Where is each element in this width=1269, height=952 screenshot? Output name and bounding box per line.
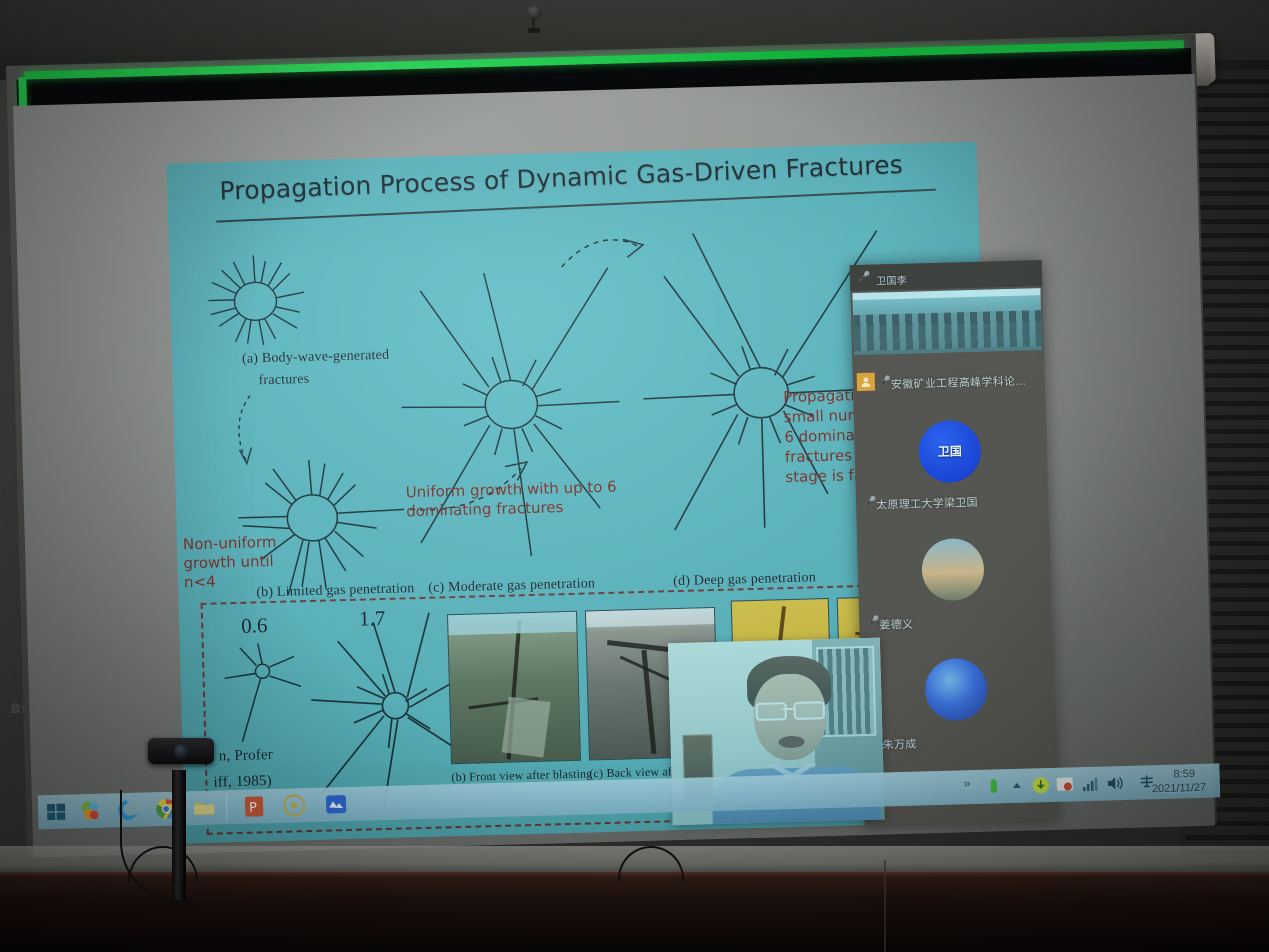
mic-stand — [884, 860, 886, 952]
fracture-diagram-c — [398, 262, 626, 568]
annotation-nonuniform: Non-uniform growth until n<4 — [183, 532, 304, 592]
photo-of-conference-room: 会议终端 Propagation Process of Dynamic Gas-… — [0, 0, 1269, 952]
file-explorer-icon[interactable] — [192, 796, 217, 821]
battery-icon[interactable] — [986, 778, 1002, 794]
mic-icon-2: 🎤 — [864, 497, 875, 508]
download-icon[interactable] — [1032, 776, 1050, 794]
avatar-earth-circle — [924, 658, 988, 722]
participant-label-4: 朱万成 — [882, 736, 916, 753]
label-a-line2: fractures — [258, 372, 309, 389]
windows-start-icon[interactable] — [44, 800, 69, 825]
glasses-icon — [756, 701, 824, 718]
label-a-line1: (a) Body-wave-generated — [242, 348, 390, 368]
meeting-app-icon[interactable] — [324, 792, 349, 817]
powerpoint-icon[interactable]: P — [242, 794, 267, 819]
camera-lens-icon — [174, 744, 189, 759]
media-player-icon[interactable] — [282, 793, 307, 818]
volume-icon[interactable] — [1106, 774, 1124, 792]
citation-left-line1: n, Profer — [219, 747, 274, 765]
taskbar-separator — [226, 793, 228, 821]
avatar-blue-circle: 卫国 — [918, 420, 982, 484]
up-arrow-icon[interactable] — [1010, 779, 1024, 793]
mic-icon-1: 🎤 — [879, 376, 890, 387]
participant-tile-4[interactable]: 🎤 朱万成 — [860, 648, 1055, 769]
svg-text:P: P — [249, 800, 257, 815]
colorful-app-icon[interactable] — [78, 799, 103, 824]
mic-icon-3: 🎤 — [867, 617, 878, 628]
participant-tile-2[interactable]: 卫国 🎤 太原理工大学梁卫国 — [854, 408, 1049, 529]
photo-front-view-after-blasting — [447, 611, 581, 764]
antivirus-icon[interactable] — [1056, 775, 1074, 793]
participant-label-3: 姜德义 — [879, 616, 913, 633]
ceiling-speaker-icon — [524, 6, 544, 34]
arrow-c-to-d — [559, 231, 650, 283]
participant-label-2: 太原理工大学梁卫国 — [876, 494, 978, 513]
fracture-diagram-a — [199, 240, 312, 353]
participant-tile-3[interactable]: 🎤 姜德义 — [857, 528, 1052, 649]
show-hidden-icons-chevron[interactable]: » — [964, 776, 971, 790]
avatar-photo-circle — [921, 538, 985, 602]
user-icon — [857, 373, 875, 391]
participant-tile-audience-video[interactable] — [852, 288, 1042, 355]
taskbar-clock-time[interactable]: 8:59 — [1173, 768, 1195, 781]
network-icon[interactable] — [1082, 776, 1098, 792]
zoom-header-name: 卫国李 — [876, 272, 907, 288]
taskbar-clock-date[interactable]: 2021/11/27 — [1152, 782, 1207, 795]
avatar-initials: 卫国 — [929, 442, 971, 460]
participant-label-1: 安徽矿业工程高峰学科论… — [891, 373, 1027, 393]
slide-title: Propagation Process of Dynamic Gas-Drive… — [219, 148, 940, 205]
projection-screen: Propagation Process of Dynamic Gas-Drive… — [6, 34, 1217, 856]
participant-tile-1[interactable]: 🎤 安徽矿业工程高峰学科论… — [852, 352, 1045, 411]
annotation-uniform: Uniform growth with up to 6 dominating f… — [405, 477, 636, 521]
mic-icon-header: 🎤 — [858, 272, 869, 283]
